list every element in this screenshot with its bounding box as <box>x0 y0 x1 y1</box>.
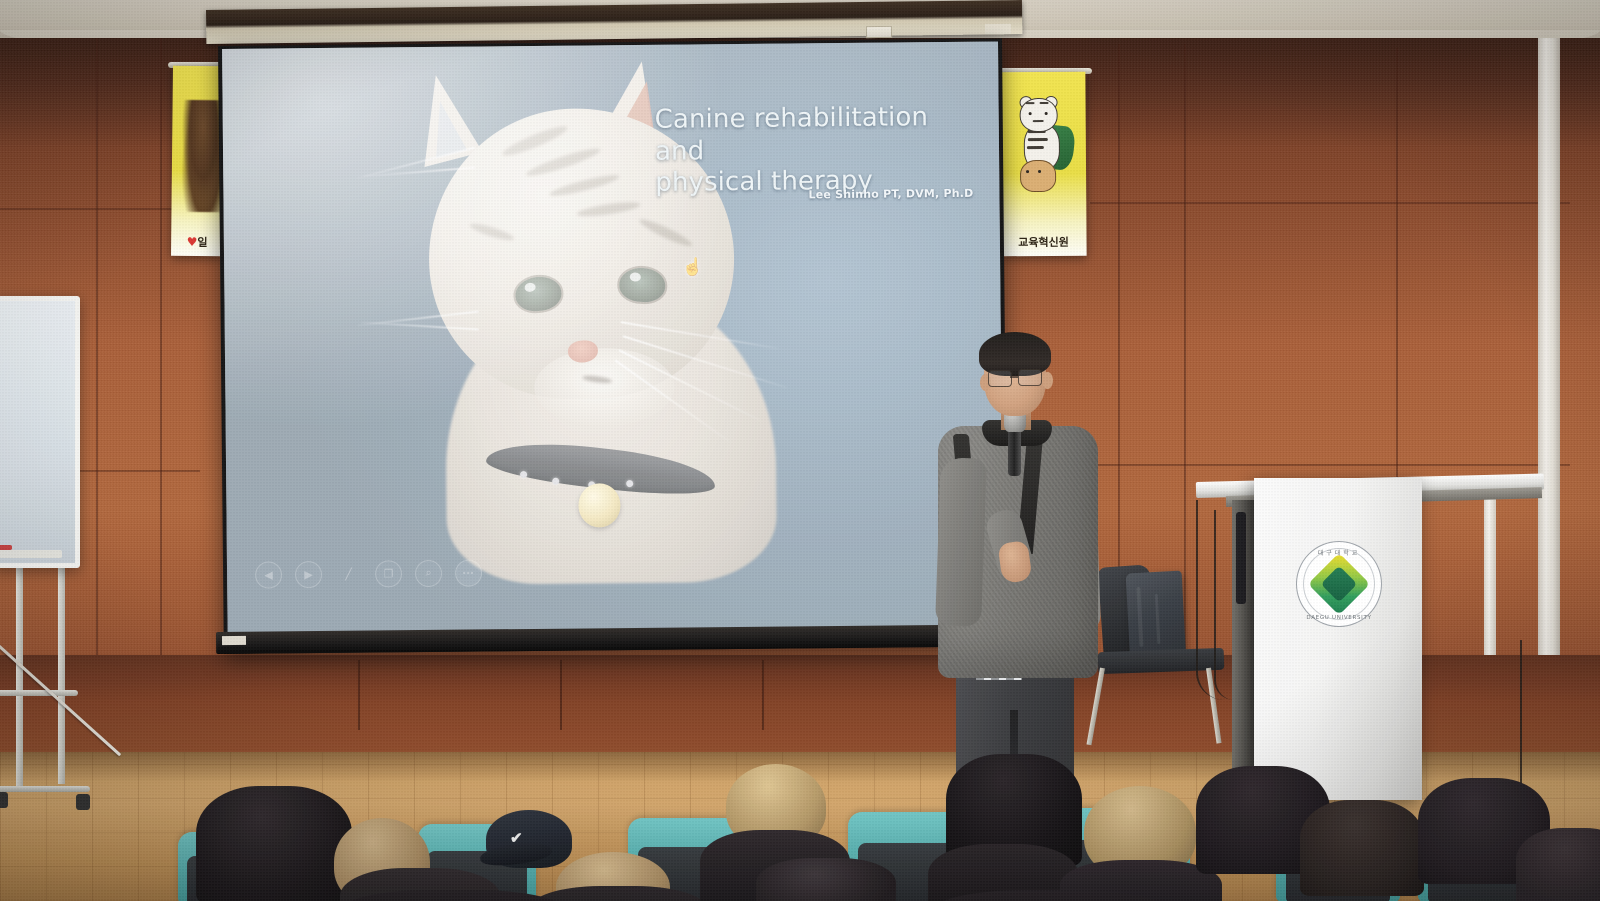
audience-person <box>196 786 352 901</box>
projector-screen-surface: ☝ <box>222 42 1004 639</box>
pen-tool-icon[interactable]: ╱ <box>335 561 362 588</box>
audience: ✔ <box>0 740 1600 901</box>
microphone-handle <box>1008 428 1021 476</box>
nike-swoosh-icon: ✔ <box>510 832 546 845</box>
glasses-bridge <box>1010 376 1018 378</box>
whiteboard <box>0 296 80 568</box>
presentation-slide: ☝ <box>222 42 1004 639</box>
podium-mic-slot <box>1236 512 1246 604</box>
banner-right-text: 교육혁신원 <box>1000 234 1086 251</box>
audience-person <box>756 858 896 901</box>
coat-fold <box>1136 587 1143 647</box>
speaker-arm-left <box>935 457 987 627</box>
coat-fold <box>1155 594 1161 644</box>
banner-left: ♥일 <box>171 66 225 257</box>
tiger-puppy <box>1020 160 1056 192</box>
daegu-university-logo: 대구대학교 DAEGU UNIVERSITY <box>1296 541 1382 627</box>
zoom-in-icon[interactable]: ⌕ <box>415 560 442 587</box>
tiger-stripe <box>1027 146 1044 149</box>
audience-person <box>1516 828 1600 901</box>
slide-title: Canine rehabilitation and physical thera… <box>655 102 976 200</box>
all-slides-icon[interactable]: ❐ <box>375 560 402 587</box>
speaker-ear-right <box>1042 372 1053 389</box>
tiger-stripe <box>1026 102 1035 104</box>
screen-bracket <box>866 26 892 38</box>
powerpoint-presenter-controls[interactable]: ◀ ▶ ╱ ❐ ⌕ ••• <box>255 559 482 588</box>
tiger-mouth <box>1033 120 1044 122</box>
wall-seam <box>0 208 200 210</box>
wall-seam <box>160 38 162 658</box>
projector-screen: ☝ <box>218 38 1008 653</box>
wall-seam <box>1184 44 1186 658</box>
wall-seam <box>1090 464 1570 466</box>
slide-byline: Lee Shinho PT, DVM, Ph.D <box>723 187 973 202</box>
screen-brand-label <box>222 636 246 645</box>
puppy-eye <box>1038 170 1041 173</box>
slide-title-line1: Canine rehabilitation and <box>655 102 976 169</box>
more-options-icon[interactable]: ••• <box>455 559 482 586</box>
riser-seam <box>358 660 360 730</box>
whiteboard-marker <box>0 545 12 550</box>
tiger-stripe <box>1040 102 1049 104</box>
projection-glare <box>222 42 730 434</box>
logo-english-text: DAEGU UNIVERSITY <box>1297 615 1381 621</box>
tiger-eye <box>1045 112 1048 115</box>
banner-left-korean: 일 <box>197 236 207 249</box>
previous-slide-icon[interactable]: ◀ <box>255 561 282 588</box>
riser-seam <box>560 660 562 730</box>
tiger-mascot-icon <box>1014 96 1077 200</box>
screen-housing-label <box>985 24 1011 34</box>
cable <box>1214 510 1234 700</box>
wall-seam <box>1090 202 1570 204</box>
logo-diamond-mark <box>1308 553 1370 615</box>
lecture-hall-scene: ♥일 교육혁신원 <box>0 0 1600 901</box>
nike-cap: ✔ <box>486 810 572 868</box>
glasses-lens-left <box>988 370 1012 387</box>
whiteboard-crossbar <box>0 690 78 696</box>
wall-seam <box>96 38 98 658</box>
tiger-stripe <box>1028 138 1048 141</box>
banner-left-text: ♥일 <box>171 234 223 251</box>
next-slide-icon[interactable]: ▶ <box>295 561 322 588</box>
tiger-eye <box>1029 112 1032 115</box>
whiteboard-tray <box>0 550 62 558</box>
puppy-eye <box>1026 170 1029 173</box>
riser-seam <box>762 660 764 730</box>
heart-icon: ♥ <box>187 235 198 249</box>
audience-person <box>1300 800 1424 896</box>
glasses-lens-right <box>1018 369 1042 386</box>
banner-right: 교육혁신원 <box>999 72 1086 257</box>
